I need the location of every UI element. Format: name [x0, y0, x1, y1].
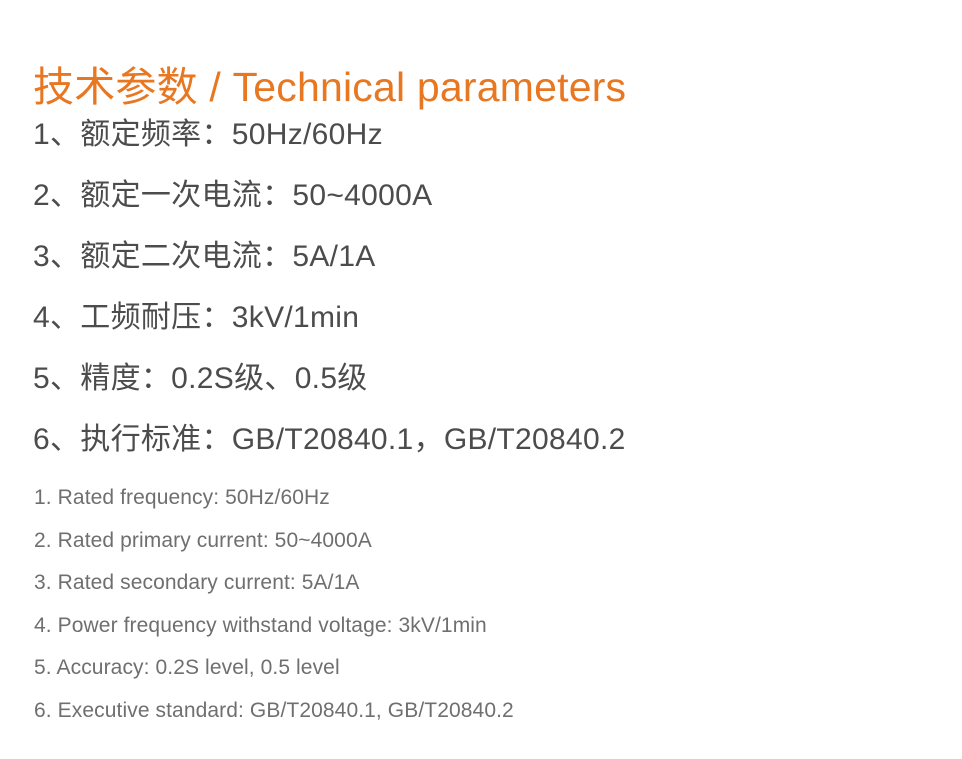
list-item: 2、额定一次电流：50~4000A — [33, 165, 626, 226]
technical-parameters-page: 技术参数 / Technical parameters 1、额定频率：50Hz/… — [0, 0, 962, 759]
list-item: 5、精度：0.2S级、0.5级 — [33, 348, 626, 409]
list-item: 6、执行标准：GB/T20840.1，GB/T20840.2 — [33, 409, 626, 470]
list-item: 1. Rated frequency: 50Hz/60Hz — [34, 477, 514, 520]
list-item: 4. Power frequency withstand voltage: 3k… — [34, 605, 514, 648]
english-spec-list: 1. Rated frequency: 50Hz/60Hz 2. Rated p… — [34, 477, 514, 732]
list-item: 4、工频耐压：3kV/1min — [33, 287, 626, 348]
list-item: 3. Rated secondary current: 5A/1A — [34, 562, 514, 605]
list-item: 5. Accuracy: 0.2S level, 0.5 level — [34, 647, 514, 690]
list-item: 6. Executive standard: GB/T20840.1, GB/T… — [34, 690, 514, 733]
list-item: 1、额定频率：50Hz/60Hz — [33, 104, 626, 165]
list-item: 3、额定二次电流：5A/1A — [33, 226, 626, 287]
chinese-spec-list: 1、额定频率：50Hz/60Hz 2、额定一次电流：50~4000A 3、额定二… — [33, 104, 626, 470]
list-item: 2. Rated primary current: 50~4000A — [34, 520, 514, 563]
